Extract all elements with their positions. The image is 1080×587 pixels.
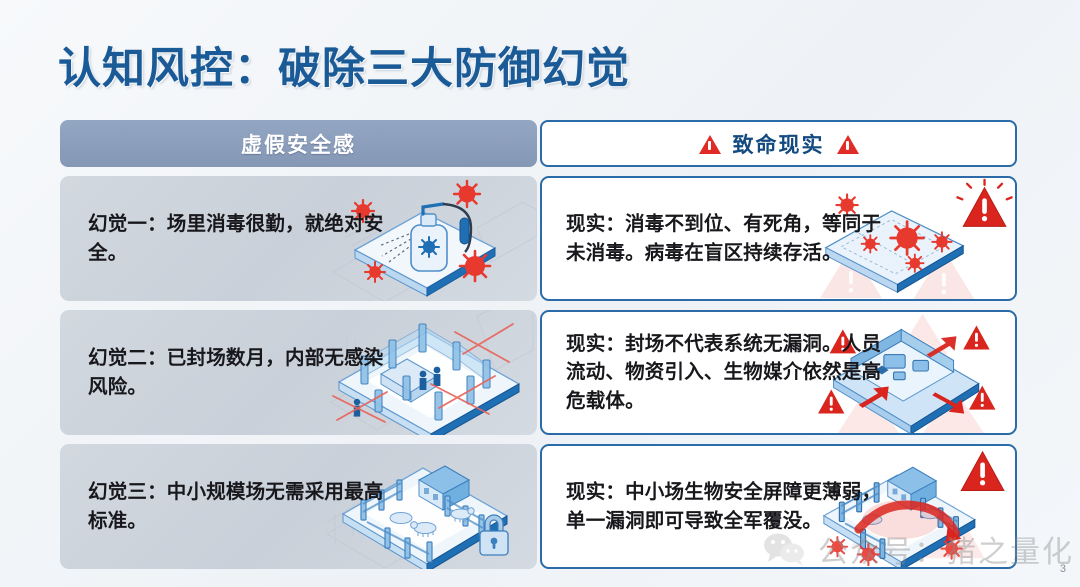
- reality-card-2-text: 现实：封场不代表系统无漏洞。人员流动、物资引入、生物媒介依然是高危载体。: [542, 330, 890, 414]
- warning-triangle-icon: [699, 135, 721, 154]
- reality-card-3[interactable]: 现实：中小场生物安全屏障更薄弱，单一漏洞即可导致全军覆没。: [540, 444, 1017, 569]
- reality-card-2[interactable]: 现实：封场不代表系统无漏洞。人员流动、物资引入、生物媒介依然是高危载体。: [540, 310, 1017, 435]
- illusion-column-header: 虚假安全感: [60, 120, 537, 167]
- reality-header-label: 致命现实: [733, 129, 825, 159]
- reality-column-header: 致命现实: [540, 120, 1017, 167]
- illusion-card-2-text: 幻觉二：已封场数月，内部无感染风险。: [60, 344, 396, 400]
- reality-card-1[interactable]: 现实：消毒不到位、有死角，等同于未消毒。病毒在盲区持续存活。: [540, 176, 1017, 301]
- illusion-card-3[interactable]: 幻觉三：中小规模场无需采用最高标准。: [60, 444, 537, 569]
- warning-triangle-icon: [837, 135, 859, 154]
- illusion-card-2[interactable]: 幻觉二：已封场数月，内部无感染风险。: [60, 310, 537, 435]
- illusion-card-1-text: 幻觉一：场里消毒很勤，就绝对安全。: [60, 210, 396, 266]
- illusion-column: 虚假安全感 幻觉一：场里消毒很勤，就绝对安全。: [60, 120, 537, 569]
- illusion-card-1[interactable]: 幻觉一：场里消毒很勤，就绝对安全。: [60, 176, 537, 301]
- illusion-card-3-text: 幻觉三：中小规模场无需采用最高标准。: [60, 478, 396, 534]
- reality-column: 致命现实 现实：消毒不到位、有死角，等同于未消毒。病毒在盲区持续存活。: [540, 120, 1017, 569]
- page-title: 认知风控：破除三大防御幻觉: [58, 34, 630, 96]
- illusion-header-label: 虚假安全感: [241, 129, 356, 159]
- page-number: 3: [1060, 563, 1066, 575]
- reality-card-3-text: 现实：中小场生物安全屏障更薄弱，单一漏洞即可导致全军覆没。: [542, 478, 890, 534]
- reality-card-1-text: 现实：消毒不到位、有死角，等同于未消毒。病毒在盲区持续存活。: [542, 210, 890, 266]
